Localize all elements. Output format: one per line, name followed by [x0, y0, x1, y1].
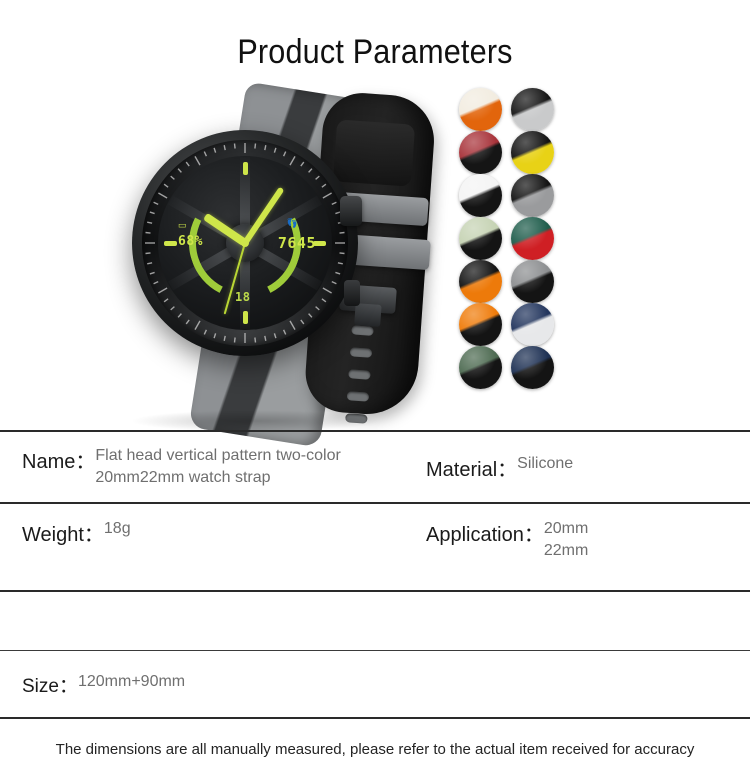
- color-swatch-gray-black[interactable]: [511, 260, 554, 303]
- spec-value-size: 120mm+90mm: [78, 671, 185, 693]
- spec-row-size: Size： 120mm+90mm: [0, 651, 750, 717]
- spec-row-name: Name： Flat head vertical pattern two-col…: [0, 432, 750, 502]
- battery-percent: 68%: [178, 234, 203, 249]
- spec-label-weight: Weight：: [22, 518, 104, 547]
- color-swatch-white-black[interactable]: [459, 174, 502, 217]
- dial-center-dot: [241, 239, 249, 247]
- product-hero: 5 10 15 20 25 30 35: [0, 80, 750, 435]
- application-size-2: 22mm: [544, 542, 588, 559]
- application-size-1: 20mm: [544, 520, 588, 537]
- watch-dial: ▭ 68% 👣 7645 18: [158, 156, 332, 330]
- color-swatch-sage-black[interactable]: [459, 217, 502, 260]
- color-swatch-black-silver[interactable]: [511, 88, 554, 131]
- color-swatch-orange-black[interactable]: [459, 303, 502, 346]
- spec-label-name: Name：: [22, 445, 95, 474]
- strap-hole: [351, 325, 374, 336]
- strap-hole: [348, 369, 371, 380]
- strap-hole: [350, 347, 373, 358]
- spec-label-size: Size：: [22, 671, 78, 698]
- color-swatch-black-yellow[interactable]: [511, 131, 554, 174]
- page-title: Product Parameters: [38, 33, 713, 72]
- color-swatch-green-red[interactable]: [511, 217, 554, 260]
- spec-value-material: Silicone: [517, 453, 573, 475]
- step-count: 7645: [278, 234, 316, 252]
- date-complication: 18: [235, 290, 250, 304]
- spec-label-material: Material：: [426, 453, 517, 482]
- color-swatch-navy-white[interactable]: [511, 303, 554, 346]
- spec-table: Name： Flat head vertical pattern two-col…: [0, 430, 750, 758]
- measurement-disclaimer: The dimensions are all manually measured…: [0, 719, 750, 758]
- spec-value-name: Flat head vertical pattern two-color 20m…: [95, 445, 385, 488]
- product-image: 5 10 15 20 25 30 35: [118, 86, 458, 426]
- spec-label-application: Application：: [426, 518, 544, 547]
- spec-value-application: 20mm 22mm: [544, 518, 588, 561]
- color-swatch-green-black[interactable]: [459, 346, 502, 389]
- spec-value-weight: 18g: [104, 518, 131, 540]
- color-swatch-grid: [459, 88, 559, 389]
- spacer: [0, 592, 750, 650]
- battery-icon: ▭: [178, 220, 187, 231]
- strap-hole: [347, 391, 370, 402]
- watch-side-button: [344, 280, 360, 306]
- color-swatch-black-orange[interactable]: [459, 260, 502, 303]
- color-swatch-navy-black[interactable]: [511, 346, 554, 389]
- product-shadow: [130, 410, 380, 432]
- color-swatch-red-black[interactable]: [459, 131, 502, 174]
- color-swatch-orange-cream[interactable]: [459, 88, 502, 131]
- watch-crown: [340, 196, 362, 226]
- watch-case: 5 10 15 20 25 30 35: [132, 130, 358, 356]
- steps-icon: 👣: [287, 218, 298, 229]
- spec-row-weight: Weight： 18g Application： 20mm 22mm: [0, 504, 750, 590]
- color-swatch-black-gray[interactable]: [511, 174, 554, 217]
